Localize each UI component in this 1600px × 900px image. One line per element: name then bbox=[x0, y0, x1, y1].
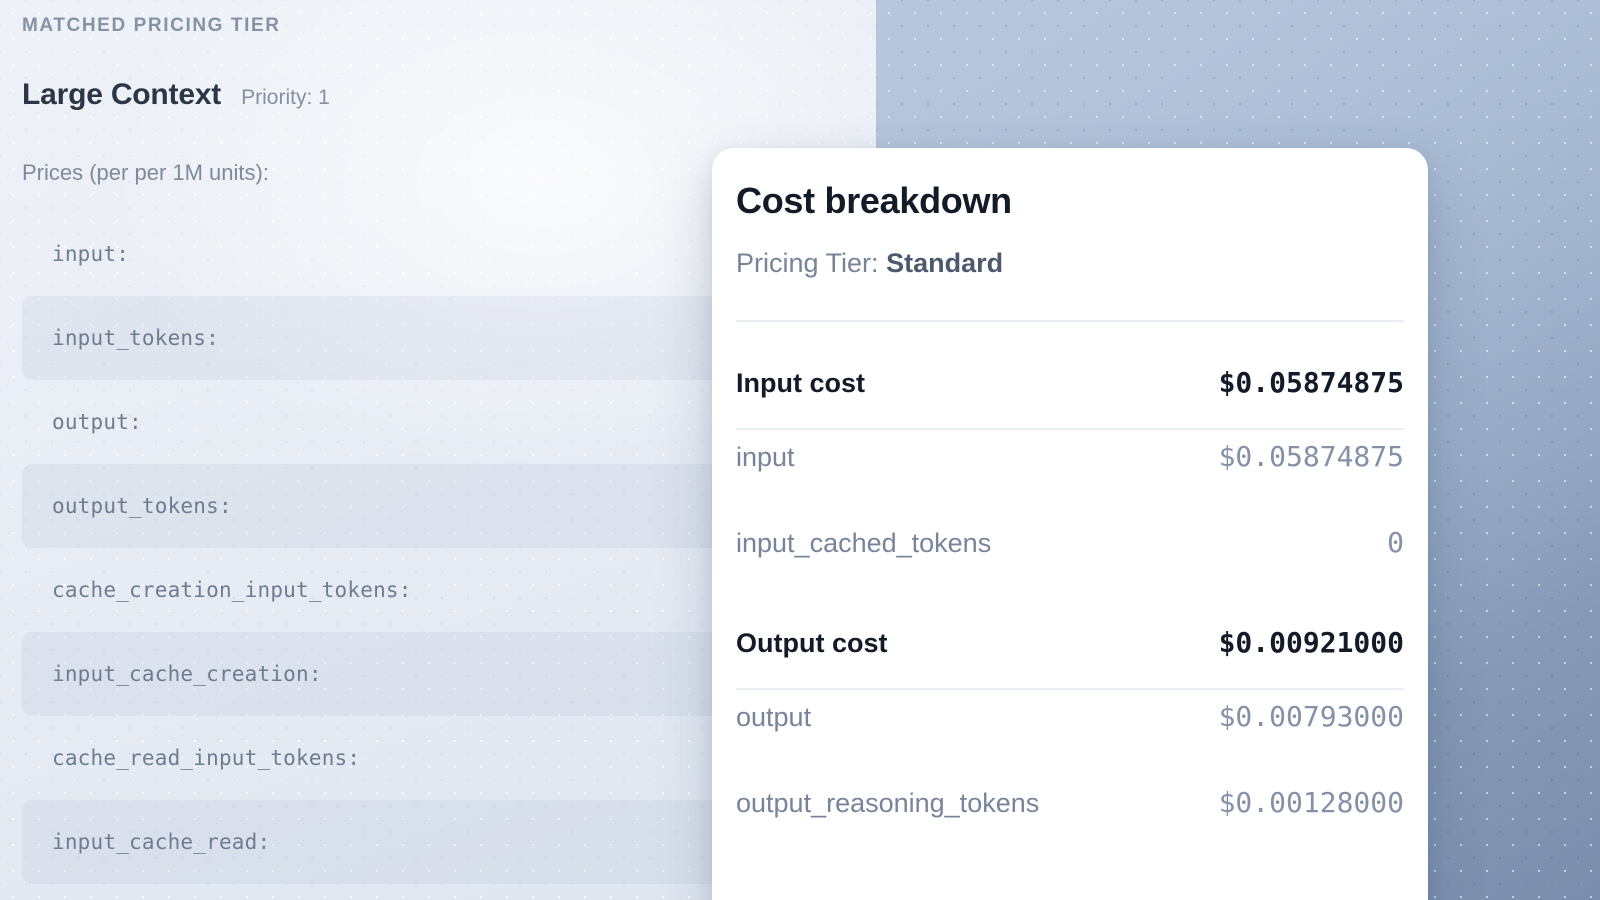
detail-value: 0 bbox=[1387, 526, 1404, 559]
price-key-label: input_tokens: bbox=[52, 326, 219, 350]
header-divider bbox=[736, 320, 1404, 322]
output-cost-label: Output cost bbox=[736, 628, 887, 659]
matched-pricing-tier-label: MATCHED PRICING TIER bbox=[22, 15, 281, 37]
input-cost-label: Input cost bbox=[736, 368, 865, 399]
list-item: cache_creation_input_tokens: bbox=[22, 548, 722, 632]
price-key-label: output_tokens: bbox=[52, 494, 232, 518]
app-root: MATCHED PRICING TIER Large Context Prior… bbox=[0, 0, 1600, 900]
cost-breakdown-card: Cost breakdown Pricing Tier: Standard In… bbox=[712, 148, 1428, 900]
output-cost-section: Output cost $0.00921000 output $0.007930… bbox=[736, 626, 1404, 872]
table-row: input_cached_tokens 0 bbox=[736, 526, 1404, 612]
detail-label: input_cached_tokens bbox=[736, 528, 991, 559]
price-key-list: input: input_tokens: output: output_toke… bbox=[22, 212, 722, 884]
detail-label: output_reasoning_tokens bbox=[736, 788, 1039, 819]
list-item: output_tokens: bbox=[22, 464, 722, 548]
price-key-label: input: bbox=[52, 242, 129, 266]
table-row: output $0.00793000 bbox=[736, 700, 1404, 786]
input-cost-heading-row: Input cost $0.05874875 bbox=[736, 366, 1404, 422]
list-item: input_cache_creation: bbox=[22, 632, 722, 716]
pricing-tier-value: Standard bbox=[886, 248, 1003, 278]
tier-heading-row: Large Context Priority: 1 bbox=[22, 78, 330, 112]
pricing-tier-subtitle: Pricing Tier: Standard bbox=[736, 248, 1003, 279]
table-row: output_reasoning_tokens $0.00128000 bbox=[736, 786, 1404, 872]
list-item: input: bbox=[22, 212, 722, 296]
detail-value: $0.05874875 bbox=[1219, 440, 1404, 473]
output-cost-value: $0.00921000 bbox=[1219, 626, 1404, 659]
input-cost-value: $0.05874875 bbox=[1219, 366, 1404, 399]
price-key-label: cache_read_input_tokens: bbox=[52, 746, 360, 770]
list-item: input_cache_read: bbox=[22, 800, 722, 884]
detail-label: input bbox=[736, 442, 795, 473]
section-divider bbox=[736, 428, 1404, 430]
page-title: Cost breakdown bbox=[736, 180, 1012, 222]
list-item: input_tokens: bbox=[22, 296, 722, 380]
price-key-label: input_cache_read: bbox=[52, 830, 270, 854]
detail-value: $0.00128000 bbox=[1219, 786, 1404, 819]
list-item: cache_read_input_tokens: bbox=[22, 716, 722, 800]
tier-name: Large Context bbox=[22, 78, 221, 112]
list-item: output: bbox=[22, 380, 722, 464]
detail-label: output bbox=[736, 702, 811, 733]
tier-priority: Priority: 1 bbox=[241, 86, 330, 110]
price-key-label: output: bbox=[52, 410, 142, 434]
pricing-tier-label: Pricing Tier: bbox=[736, 248, 879, 278]
section-divider bbox=[736, 688, 1404, 690]
prices-caption: Prices (per per 1M units): bbox=[22, 160, 269, 186]
price-key-label: cache_creation_input_tokens: bbox=[52, 578, 412, 602]
output-cost-heading-row: Output cost $0.00921000 bbox=[736, 626, 1404, 682]
price-key-label: input_cache_creation: bbox=[52, 662, 322, 686]
input-cost-section: Input cost $0.05874875 input $0.05874875… bbox=[736, 366, 1404, 612]
table-row: input $0.05874875 bbox=[736, 440, 1404, 526]
detail-value: $0.00793000 bbox=[1219, 700, 1404, 733]
